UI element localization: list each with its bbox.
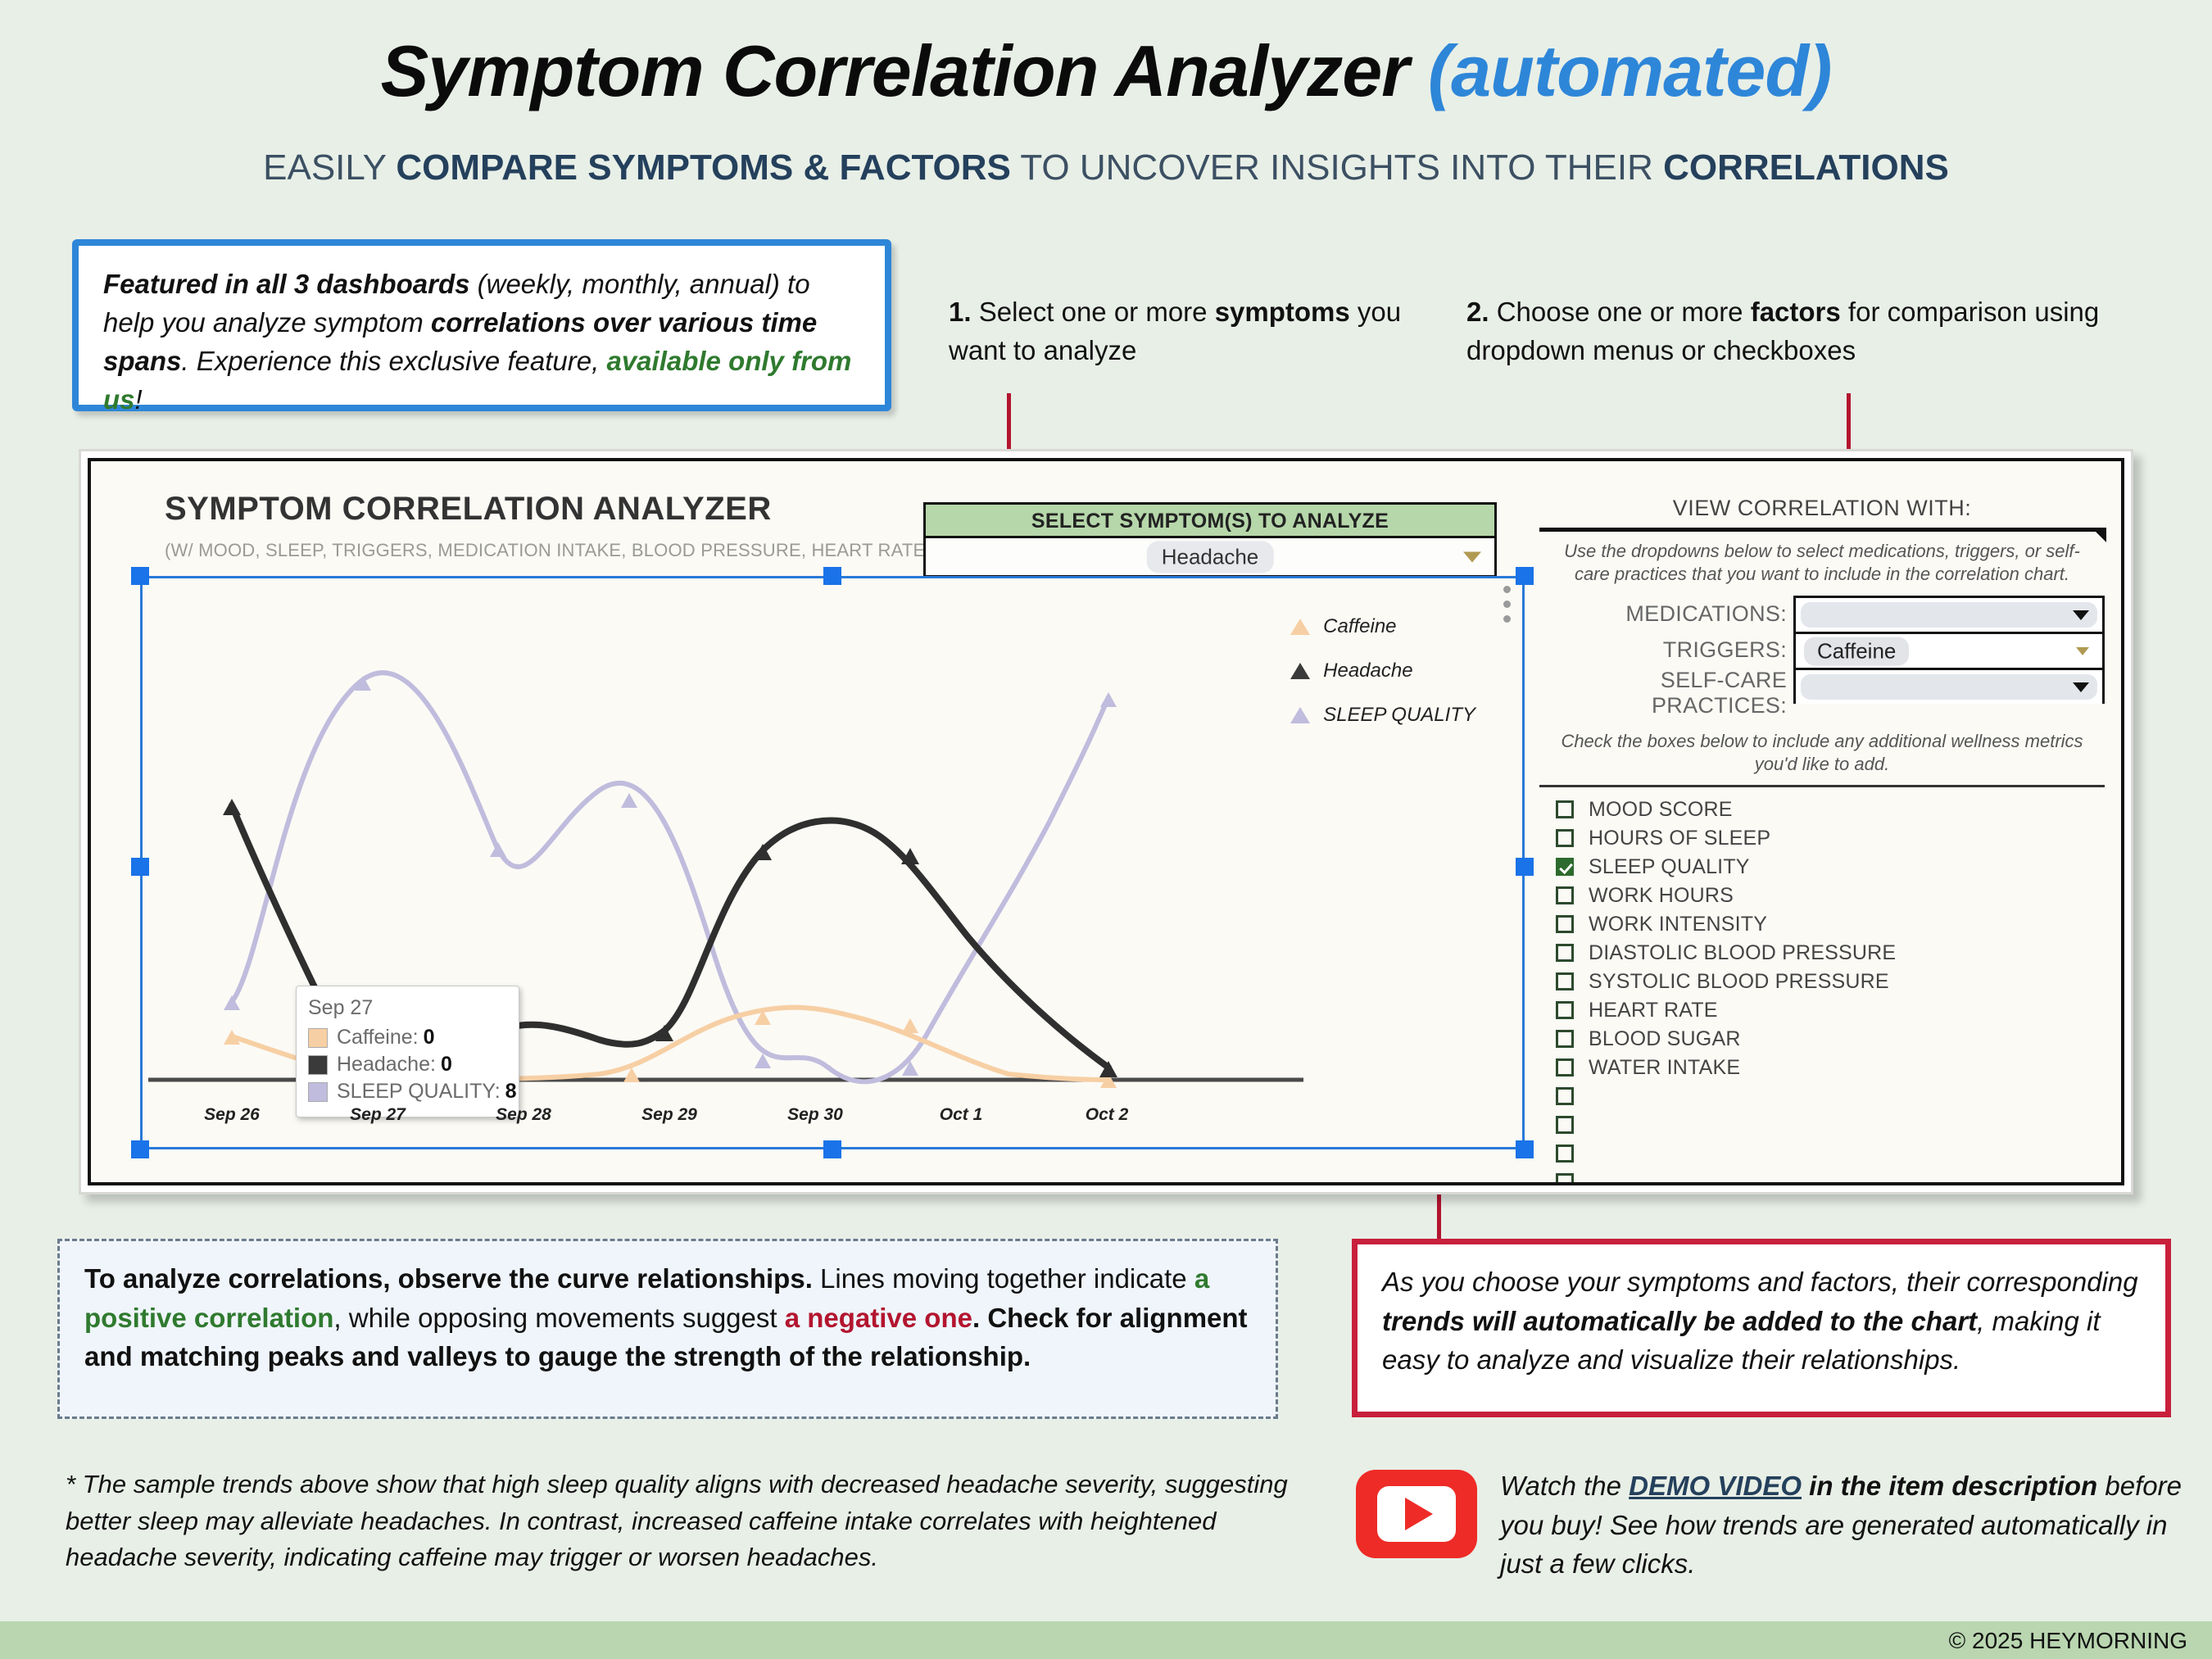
checkbox-row-mood-score[interactable]: MOOD SCORE [1539,796,2105,824]
checkbox-row-empty[interactable] [1539,1168,2105,1185]
copyright-text: © 2025 HEYMORNING [1949,1628,2187,1654]
dropdown-medications[interactable] [1793,596,2105,632]
tooltip-label-caffeine: Caffeine: [337,1026,419,1049]
dropdown-help-text: Use the dropdowns below to select medica… [1539,532,2105,596]
dropdown-label-self-care: SELF-CARE PRACTICES: [1539,668,1793,718]
dropdown-triggers-value: Caffeine [1804,637,1909,665]
correlation-chart[interactable]: Caffeine Headache SLEEP QUALITY Sep 27 C… [140,576,1525,1149]
page-title-main: Symptom Correlation Analyzer [381,30,1428,111]
checkbox-hours-of-sleep[interactable] [1556,829,1574,847]
symptom-selector-field[interactable]: Headache [923,538,1497,578]
checkbox-row-water-intake[interactable]: WATER INTAKE [1539,1054,2105,1082]
checkbox-help-text: Check the boxes below to include any add… [1539,718,2105,784]
legend-item-caffeine: Caffeine [1290,615,1475,638]
step-1-text-b: symptoms [1215,297,1350,327]
checkbox-row-sleep-quality[interactable]: SLEEP QUALITY [1539,853,2105,882]
step-1-text-a: Select one or more [972,297,1215,327]
chevron-down-icon[interactable] [2076,647,2089,655]
demo-video-block[interactable]: Watch the DEMO VIDEO in the item descrip… [1356,1466,2183,1584]
checkbox-row-blood-sugar[interactable]: BLOOD SUGAR [1539,1025,2105,1054]
dropdown-medications-field[interactable] [1801,602,2097,628]
tip-negative-correlation: a negative one [785,1303,972,1333]
corner-fold-icon [2092,528,2106,542]
x-tick-label: Sep 26 [204,1105,260,1125]
checkbox-row-empty[interactable] [1539,1140,2105,1168]
dropdown-triggers[interactable]: Caffeine [1793,632,2105,668]
symptom-selector[interactable]: SELECT SYMPTOM(S) TO ANALYZE Headache [923,502,1497,578]
subtitle-part-1: EASILY [263,147,396,188]
symptom-selected-value: Headache [1147,541,1274,573]
checkbox-systolic-bp[interactable] [1556,972,1574,990]
callout-text-2: . Experience this exclusive feature, [181,346,606,376]
subtitle-part-3: TO UNCOVER INSIGHTS INTO THEIR [1011,147,1663,188]
checkbox-label: WORK HOURS [1589,884,1734,908]
checkbox-label: HOURS OF SLEEP [1589,827,1770,850]
triangle-marker-sleep-quality [1290,707,1310,723]
checkbox-sleep-quality[interactable] [1556,858,1574,876]
resize-handle-top-right[interactable] [1516,567,1534,585]
checkbox-row-work-hours[interactable]: WORK HOURS [1539,882,2105,910]
callout-bold-1: Featured in all 3 dashboards [103,269,469,299]
demo-video-text: Watch the DEMO VIDEO in the item descrip… [1500,1466,2183,1584]
resize-handle-middle-right[interactable] [1516,858,1534,876]
checkbox-label: HEART RATE [1589,999,1718,1022]
x-tick-label: Sep 29 [641,1105,697,1125]
analysis-tip-box: To analyze correlations, observe the cur… [57,1239,1278,1419]
tip-text-2: , while opposing movements suggest [333,1303,784,1333]
resize-handle-bottom-right[interactable] [1516,1140,1534,1158]
resize-handle-middle-left[interactable] [131,858,149,876]
checkbox-label: SLEEP QUALITY [1589,855,1750,879]
tooltip-label-headache: Headache: [337,1053,436,1077]
step-1-note: 1. Select one or more symptoms you want … [949,293,1448,370]
dropdown-self-care-field[interactable] [1801,674,2097,700]
tooltip-row-sleep-quality: SLEEP QUALITY:8 [308,1080,507,1104]
tooltip-row-caffeine: Caffeine:0 [308,1026,507,1049]
subtitle-part-4: CORRELATIONS [1663,147,1949,188]
chart-legend: Caffeine Headache SLEEP QUALITY [1290,615,1475,748]
step-2-text-a: Choose one or more [1489,297,1751,327]
resize-handle-bottom-center[interactable] [823,1140,841,1158]
resize-handle-top-left[interactable] [131,567,149,585]
checkbox-empty[interactable] [1556,1116,1574,1134]
tooltip-value-caffeine: 0 [424,1026,435,1049]
dropdown-self-care[interactable] [1793,668,2105,704]
legend-label-caffeine: Caffeine [1323,615,1396,638]
youtube-play-icon[interactable] [1356,1470,1477,1558]
tooltip-row-headache: Headache:0 [308,1053,507,1077]
resize-handle-bottom-left[interactable] [131,1140,149,1158]
view-correlation-title: VIEW CORRELATION WITH: [1539,496,2105,528]
chevron-down-icon[interactable] [1463,551,1481,562]
x-tick-label: Sep 30 [787,1105,843,1125]
page-title: Symptom Correlation Analyzer (automated) [0,29,2212,113]
wellness-metrics-checkbox-list: MOOD SCORE HOURS OF SLEEP SLEEP QUALITY … [1539,787,2105,1185]
legend-label-headache: Headache [1323,660,1412,682]
symptom-selector-header: SELECT SYMPTOM(S) TO ANALYZE [923,502,1497,538]
dropdown-label-triggers: TRIGGERS: [1539,632,1793,668]
dropdown-row-triggers[interactable]: TRIGGERS: Caffeine [1539,632,2105,668]
tooltip-swatch-caffeine [308,1028,328,1048]
checkbox-row-systolic-bp[interactable]: SYSTOLIC BLOOD PRESSURE [1539,968,2105,996]
checkbox-diastolic-bp[interactable] [1556,944,1574,962]
tooltip-date: Sep 27 [308,996,507,1020]
step-2-number: 2. [1466,297,1489,327]
checkbox-row-work-intensity[interactable]: WORK INTENSITY [1539,910,2105,939]
checkbox-empty[interactable] [1556,1173,1574,1185]
dropdown-row-self-care[interactable]: SELF-CARE PRACTICES: [1539,668,2105,718]
page-title-accent: (automated) [1428,30,1832,111]
chart-x-axis: Sep 26 Sep 27 Sep 28 Sep 29 Sep 30 Oct 1… [140,1105,1525,1130]
checkbox-work-intensity[interactable] [1556,915,1574,933]
triangle-marker-headache [1290,663,1310,679]
x-tick-label: Sep 27 [350,1105,406,1125]
chart-options-menu-icon[interactable] [1503,586,1510,630]
checkbox-empty[interactable] [1556,1087,1574,1105]
legend-item-headache: Headache [1290,660,1475,682]
checkbox-work-hours[interactable] [1556,886,1574,904]
tip-bold-1: To analyze correlations, observe the cur… [84,1263,813,1294]
checkbox-mood-score[interactable] [1556,800,1574,818]
dashboard-title: SYMPTOM CORRELATION ANALYZER [165,491,772,528]
x-tick-label: Oct 2 [1086,1105,1129,1125]
auto-trend-callout: As you choose your symptoms and factors,… [1352,1239,2171,1417]
checkbox-row-hours-of-sleep[interactable]: HOURS OF SLEEP [1539,824,2105,853]
callout-text-3: ! [135,384,143,415]
x-tick-label: Sep 28 [496,1105,551,1125]
checkbox-blood-sugar[interactable] [1556,1030,1574,1048]
checkbox-label: MOOD SCORE [1589,798,1733,822]
featured-callout: Featured in all 3 dashboards (weekly, mo… [72,239,891,411]
dropdown-label-medications: MEDICATIONS: [1539,596,1793,632]
step-2-text-b: factors [1751,297,1841,327]
checkbox-row-empty[interactable] [1539,1111,2105,1140]
checkbox-label: SYSTOLIC BLOOD PRESSURE [1589,970,1889,994]
dashboard-subtitle: (W/ MOOD, SLEEP, TRIGGERS, MEDICATION IN… [165,540,983,561]
legend-item-sleep-quality: SLEEP QUALITY [1290,704,1475,727]
subtitle-part-2: COMPARE SYMPTOMS & FACTORS [396,147,1011,188]
checkbox-label: WATER INTAKE [1589,1056,1740,1080]
resize-handle-top-center[interactable] [823,567,841,585]
checkbox-row-diastolic-bp[interactable]: DIASTOLIC BLOOD PRESSURE [1539,939,2105,968]
sample-trends-footnote: * The sample trends above show that high… [66,1466,1294,1576]
triangle-marker-caffeine [1290,619,1310,635]
checkbox-heart-rate[interactable] [1556,1001,1574,1019]
legend-label-sleep-quality: SLEEP QUALITY [1323,704,1475,727]
footer-bar: © 2025 HEYMORNING [0,1621,2212,1659]
tooltip-swatch-headache [308,1055,328,1075]
tooltip-label-sleep-quality: SLEEP QUALITY: [337,1080,501,1104]
x-tick-label: Oct 1 [940,1105,983,1125]
tooltip-swatch-sleep-quality [308,1082,328,1102]
dropdown-row-medications[interactable]: MEDICATIONS: [1539,596,2105,632]
view-correlation-panel: VIEW CORRELATION WITH: Use the dropdowns… [1539,496,2105,1185]
dashboard-screenshot: SYMPTOM CORRELATION ANALYZER (W/ MOOD, S… [79,449,2133,1194]
tip-text-1: Lines moving together indicate [813,1263,1194,1294]
redbox-text-1: As you choose your symptoms and factors,… [1382,1267,2138,1297]
checkbox-water-intake[interactable] [1556,1058,1574,1077]
step-1-number: 1. [949,297,972,327]
checkbox-row-empty[interactable] [1539,1082,2105,1111]
checkbox-label: WORK INTENSITY [1589,913,1767,936]
checkbox-row-heart-rate[interactable]: HEART RATE [1539,996,2105,1025]
yt-bold-1: in the item description [1802,1471,2097,1501]
yt-text-1: Watch the [1500,1471,1629,1501]
checkbox-empty[interactable] [1556,1145,1574,1163]
checkbox-label: BLOOD SUGAR [1589,1027,1741,1051]
demo-video-link[interactable]: DEMO VIDEO [1629,1471,1802,1501]
chevron-down-icon[interactable] [2073,610,2089,620]
page-subtitle: EASILY COMPARE SYMPTOMS & FACTORS TO UNC… [0,147,2212,188]
tooltip-value-sleep-quality: 8 [505,1080,517,1104]
checkbox-label: DIASTOLIC BLOOD PRESSURE [1589,941,1896,965]
redbox-bold-1: trends will automatically be added to th… [1382,1306,1977,1336]
chevron-down-icon[interactable] [2073,682,2089,692]
step-2-note: 2. Choose one or more factors for compar… [1466,293,2171,370]
panel-divider [1539,528,2105,532]
tooltip-value-headache: 0 [441,1053,452,1077]
chart-tooltip: Sep 27 Caffeine:0 Headache:0 SLEEP QUALI… [296,986,519,1117]
